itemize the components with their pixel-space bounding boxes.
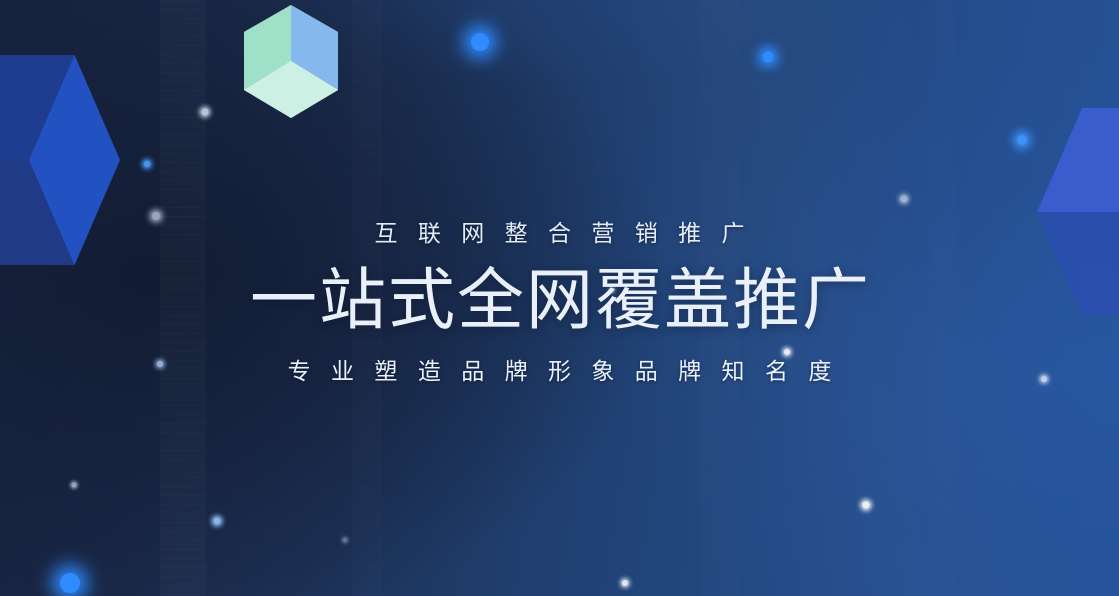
isometric-cube-logo-icon xyxy=(244,5,338,118)
hexagon-right-facet-top xyxy=(1037,108,1119,212)
hero-headline: 一站式全网覆盖推广 xyxy=(0,265,1119,336)
hero-text-block: 互 联 网 整 合 营 销 推 广 一站式全网覆盖推广 专 业 塑 造 品 牌 … xyxy=(0,222,1119,383)
hero-tagline: 专 业 塑 造 品 牌 形 象 品 牌 知 名 度 xyxy=(0,360,1119,383)
hero-eyebrow: 互 联 网 整 合 营 销 推 广 xyxy=(0,222,1119,245)
hero-banner: 互 联 网 整 合 营 销 推 广 一站式全网覆盖推广 专 业 塑 造 品 牌 … xyxy=(0,0,1119,596)
